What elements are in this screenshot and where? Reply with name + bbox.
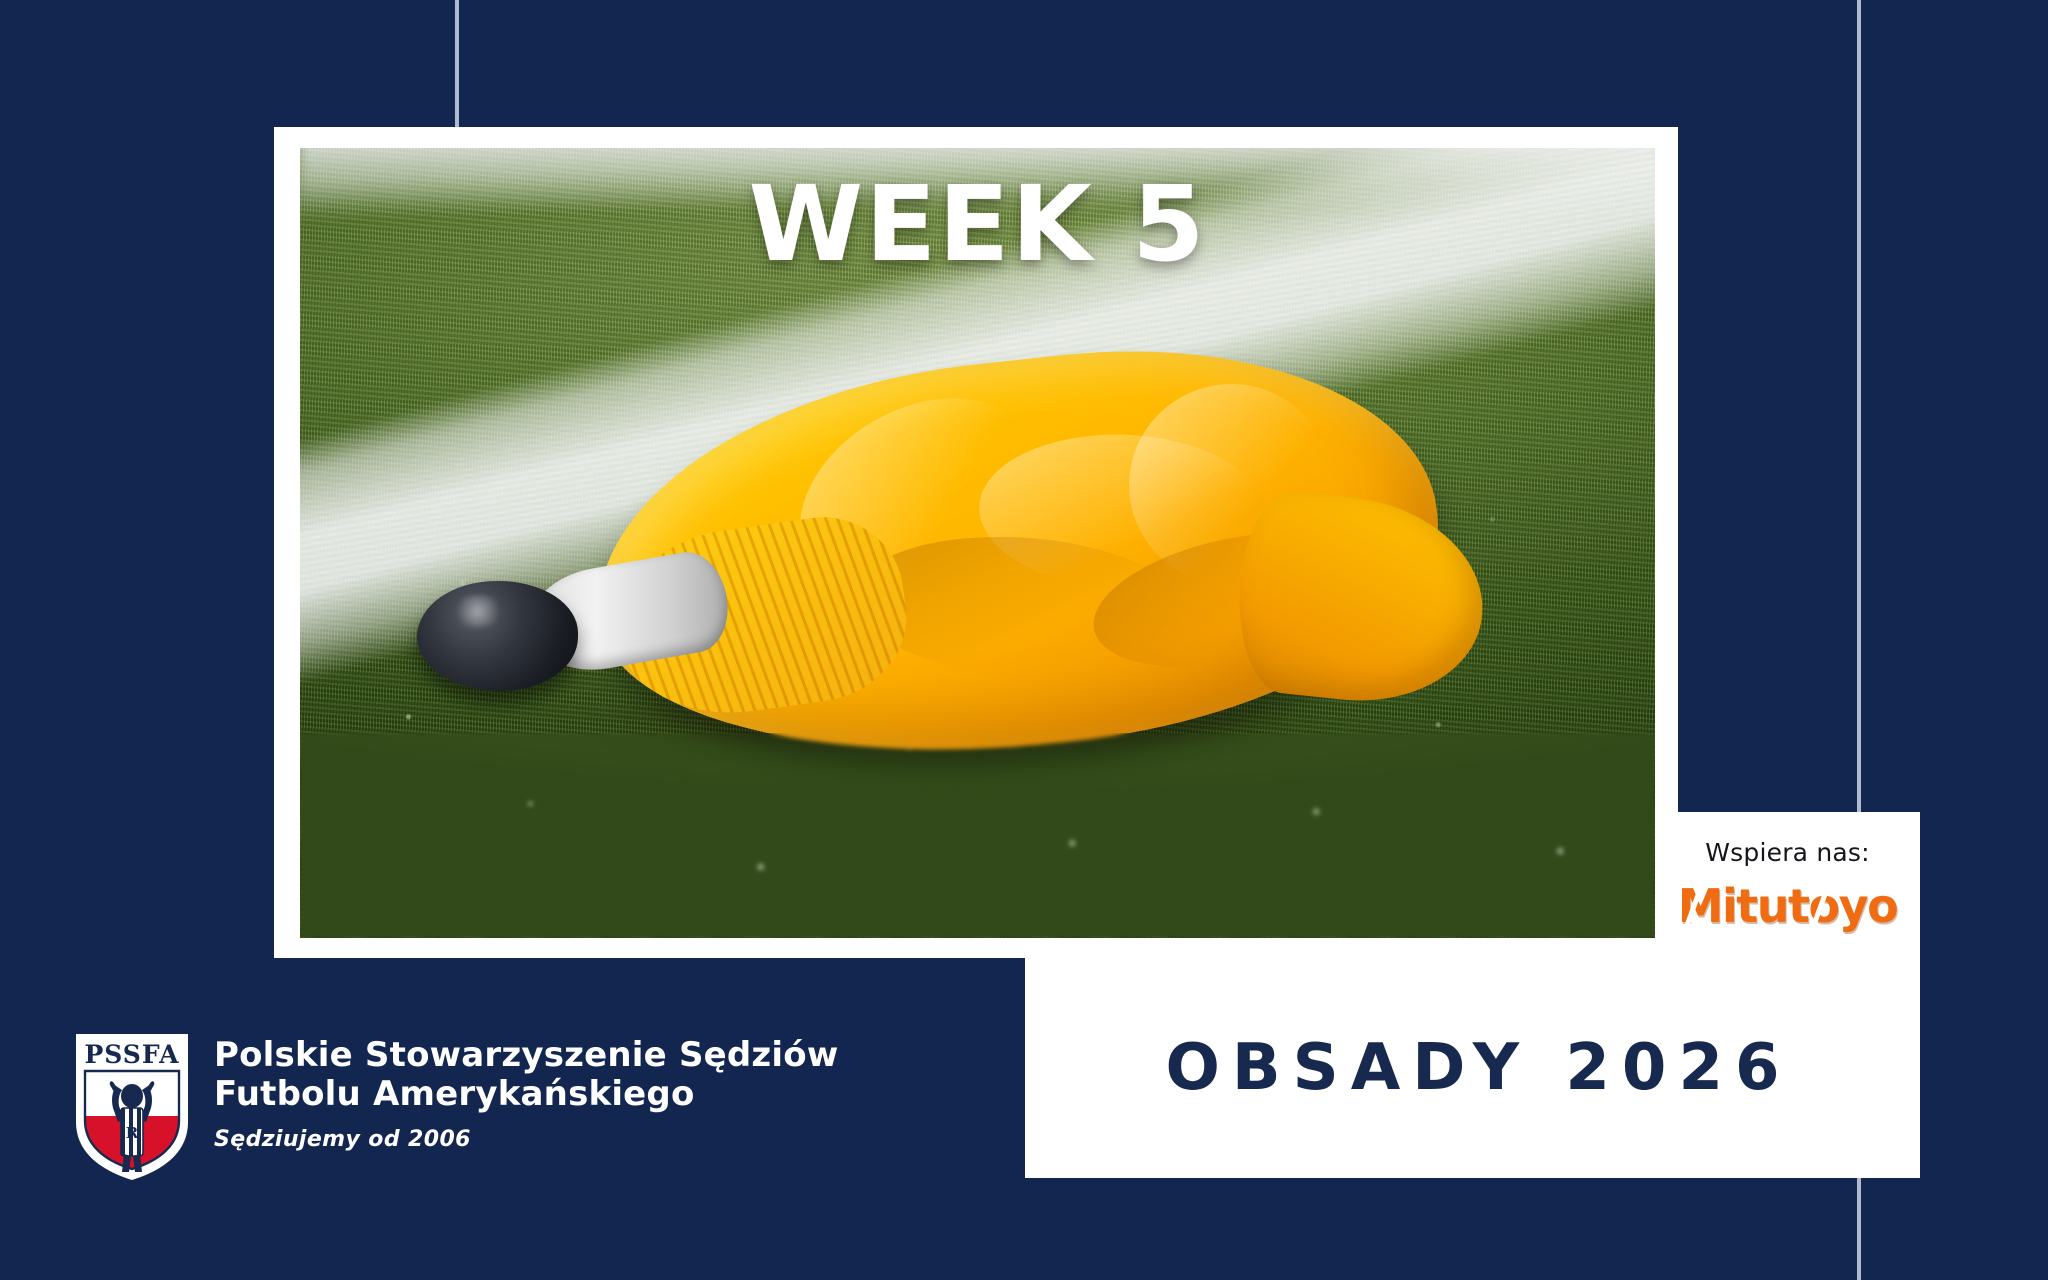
- mitutoyo-wordmark: Mitutoyo: [1678, 879, 1897, 933]
- brand-text-block: Polskie Stowarzyszenie Sędziów Futbolu A…: [214, 1030, 838, 1152]
- pssfa-shield-icon: PSSFA: [72, 1030, 192, 1182]
- brand-lockup: PSSFA: [72, 1030, 838, 1182]
- hero-photo-frame: WEEK 5: [274, 127, 1678, 958]
- brand-name-line-1: Polskie Stowarzyszenie Sędziów: [214, 1036, 838, 1075]
- hero-photo: WEEK 5: [300, 148, 1655, 938]
- mitutoyo-logo: Mitutoyo: [1678, 879, 1897, 933]
- headline-card: OBSADY 2026: [1025, 958, 1920, 1178]
- brand-name-line-2: Futbolu Amerykańskiego: [214, 1075, 838, 1114]
- flag-weight-highlight: [450, 595, 506, 627]
- flag-tip: [1229, 487, 1493, 713]
- brand-tagline: Sędziujemy od 2006: [214, 1127, 838, 1152]
- sponsor-label: Wspiera nas:: [1705, 838, 1870, 867]
- sponsor-card: Wspiera nas: Mitutoyo: [1655, 812, 1920, 980]
- flag-weight-ball: [417, 581, 578, 691]
- vertical-rule-left: [455, 0, 459, 127]
- svg-text:R: R: [126, 1124, 139, 1142]
- svg-text:PSSFA: PSSFA: [84, 1040, 179, 1069]
- page-title: OBSADY 2026: [1153, 1031, 1791, 1105]
- week-title: WEEK 5: [300, 172, 1655, 276]
- penalty-flag: [395, 361, 1506, 819]
- slide-canvas: WEEK 5 Wspiera nas: Mitutoyo OBSADY 2026…: [0, 0, 2048, 1280]
